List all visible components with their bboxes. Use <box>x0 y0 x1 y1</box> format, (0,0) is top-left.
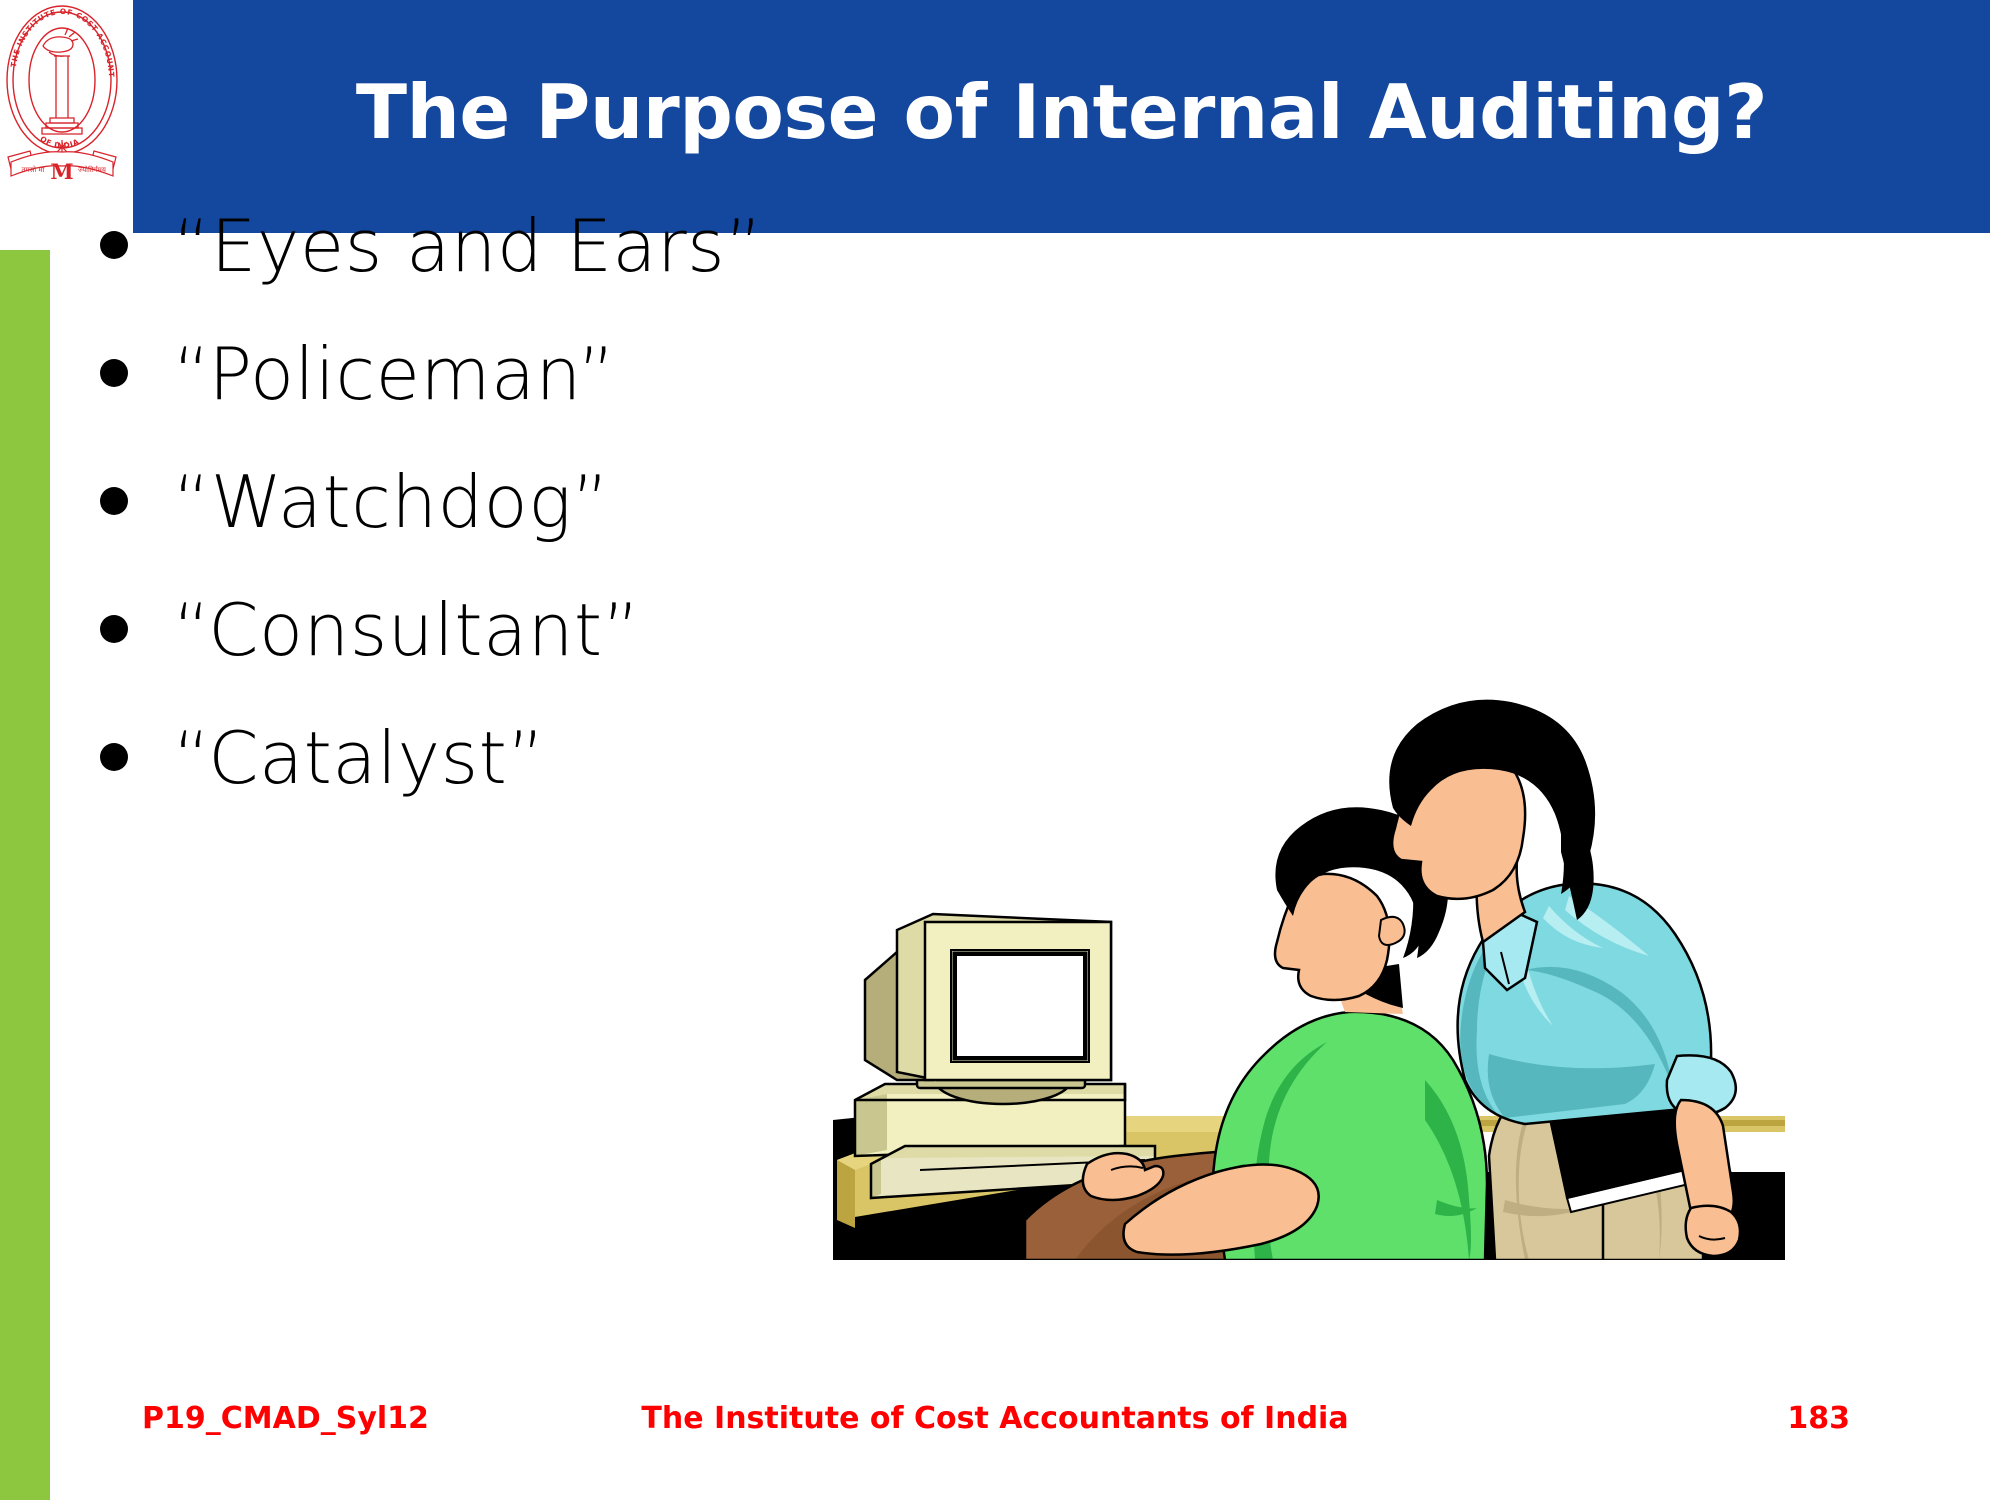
list-item: “Eyes and Ears” <box>100 210 920 338</box>
slide-footer: P19_CMAD_Syl12 The Institute of Cost Acc… <box>0 1398 1990 1448</box>
svg-text:OF INDIA: OF INDIA <box>38 134 80 150</box>
list-item: “Catalyst” <box>100 722 920 850</box>
footer-subject-code: P19_CMAD_Syl12 <box>142 1404 429 1434</box>
bullet-label: “Consultant” <box>173 594 640 666</box>
slide-canvas: THE INSTITUTE OF COST ACCOUNTANTS OF IND… <box>0 0 1990 1500</box>
svg-text:THE INSTITUTE OF COST ACCOUNTA: THE INSTITUTE OF COST ACCOUNTANTS <box>3 2 116 77</box>
institute-logo: THE INSTITUTE OF COST ACCOUNTANTS OF IND… <box>3 2 121 184</box>
svg-text:M: M <box>50 159 73 184</box>
bullet-dot-icon <box>100 615 128 643</box>
bullet-label: “Watchdog” <box>173 466 610 538</box>
bullet-label: “Policeman” <box>173 338 616 410</box>
bullet-label: “Eyes and Ears” <box>173 210 763 282</box>
bullet-dot-icon <box>100 359 128 387</box>
list-item: “Consultant” <box>100 594 920 722</box>
bullet-list: “Eyes and Ears” “Policeman” “Watchdog” “… <box>100 210 920 850</box>
bullet-dot-icon <box>100 487 128 515</box>
page-title: The Purpose of Internal Auditing? <box>133 0 1990 233</box>
slide-header-bar: The Purpose of Internal Auditing? <box>133 0 1990 233</box>
bullet-dot-icon <box>100 231 128 259</box>
list-item: “Watchdog” <box>100 466 920 594</box>
left-accent-bar <box>0 250 50 1500</box>
two-people-at-computer-illustration <box>825 560 1785 1260</box>
bullet-dot-icon <box>100 743 128 771</box>
footer-institute-name: The Institute of Cost Accountants of Ind… <box>641 1404 1348 1434</box>
svg-text:ज्योतिर्गमय: ज्योतिर्गमय <box>78 165 107 174</box>
bullet-label: “Catalyst” <box>173 722 545 794</box>
list-item: “Policeman” <box>100 338 920 466</box>
svg-text:तमसो मा: तमसो मा <box>22 165 45 174</box>
footer-page-number: 183 <box>1787 1404 1850 1434</box>
